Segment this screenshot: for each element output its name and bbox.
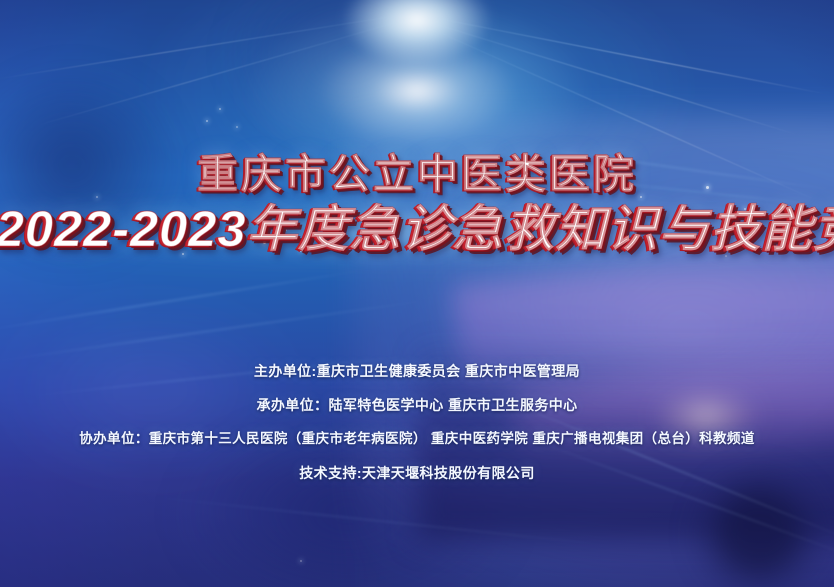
poster-credits-block: 主办单位:重庆市卫生健康委员会 重庆市中医管理局 承办单位：陆军特色医学中心 重… — [0, 364, 834, 480]
poster-title-line-1: 重庆市公立中医类医院 — [0, 152, 834, 196]
credit-line-co-organizer: 协办单位：重庆市第十三人民医院（重庆市老年病医院） 重庆中医药学院 重庆广播电视… — [0, 432, 834, 446]
poster-title-line-2: 2022-2023年度急诊急救知识与技能竞赛 — [0, 202, 834, 257]
credit-line-technical-support: 技术支持:天津天堰科技股份有限公司 — [0, 466, 834, 480]
event-poster: 重庆市公立中医类医院 2022-2023年度急诊急救知识与技能竞赛 主办单位:重… — [0, 0, 834, 587]
poster-title-block: 重庆市公立中医类医院 2022-2023年度急诊急救知识与技能竞赛 — [0, 152, 834, 257]
credit-line-undertaker: 承办单位：陆军特色医学中心 重庆市卫生服务中心 — [0, 398, 834, 412]
credit-line-organizer: 主办单位:重庆市卫生健康委员会 重庆市中医管理局 — [0, 364, 834, 378]
